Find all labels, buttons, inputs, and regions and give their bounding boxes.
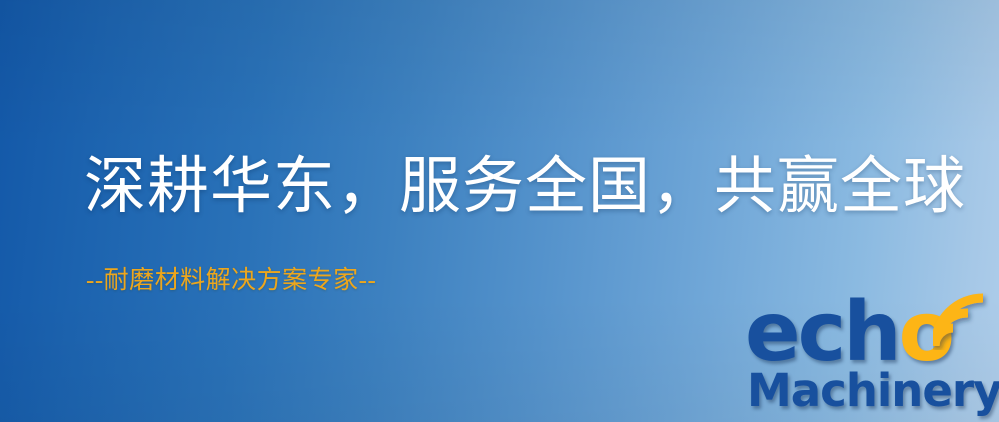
promo-banner: 深耕华东，服务全国，共赢全球 --耐磨材料解决方案专家-- echo Machi… [0, 0, 999, 422]
logo-wordmark: echo [745, 292, 952, 374]
echo-machinery-logo[interactable]: echo Machinery® [745, 292, 999, 422]
logo-sub-text: Machinery [747, 364, 999, 417]
banner-subtitle: --耐磨材料解决方案专家-- [86, 268, 376, 293]
banner-headline: 深耕华东，服务全国，共赢全球 [84, 156, 966, 218]
logo-sub-wordmark: Machinery® [747, 368, 999, 413]
echo-signal-arcs-icon [933, 288, 999, 350]
